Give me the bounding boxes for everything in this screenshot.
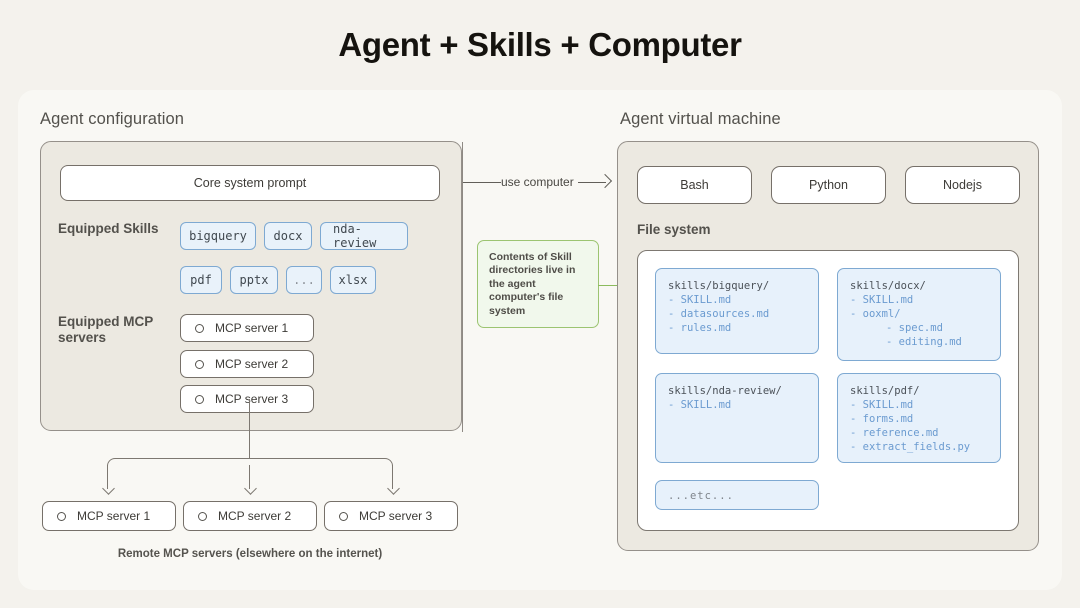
equipped-skills-label: Equipped Skills xyxy=(58,221,168,237)
file-entry: - editing.md xyxy=(850,335,988,349)
runtime-python[interactable]: Python xyxy=(771,166,886,204)
file-entry: - SKILL.md xyxy=(850,293,988,307)
skill-chip-more[interactable]: ... xyxy=(286,266,322,294)
file-tree-path: skills/bigquery/ xyxy=(668,279,806,293)
equipped-mcp-server-1[interactable]: MCP server 1 xyxy=(180,314,314,342)
file-entry: - SKILL.md xyxy=(668,398,806,412)
file-tree-docx: skills/docx/ - SKILL.md - ooxml/ - spec.… xyxy=(837,268,1001,361)
file-tree-path: skills/pdf/ xyxy=(850,384,988,398)
circle-icon xyxy=(195,395,204,404)
page-title: Agent + Skills + Computer xyxy=(0,26,1080,64)
agent-configuration-heading: Agent configuration xyxy=(40,110,184,129)
file-entry: - reference.md xyxy=(850,426,988,440)
circle-icon xyxy=(339,512,348,521)
remote-mcp-server-2[interactable]: MCP server 2 xyxy=(183,501,317,531)
file-entry: - ooxml/ xyxy=(850,307,988,321)
mcp-branch-stem xyxy=(249,399,250,459)
runtime-nodejs-label: Nodejs xyxy=(943,178,982,192)
runtime-bash-label: Bash xyxy=(680,178,709,192)
core-system-prompt-box: Core system prompt xyxy=(60,165,440,201)
equipped-mcp-server-3-label: MCP server 3 xyxy=(215,392,288,406)
equipped-mcp-server-2-label: MCP server 2 xyxy=(215,357,288,371)
skill-chip-pptx[interactable]: pptx xyxy=(230,266,278,294)
remote-mcp-server-3-label: MCP server 3 xyxy=(359,509,432,523)
skill-chip-nda-review[interactable]: nda-review xyxy=(320,222,408,250)
circle-icon xyxy=(198,512,207,521)
file-tree-pdf: skills/pdf/ - SKILL.md - forms.md - refe… xyxy=(837,373,1001,463)
remote-mcp-server-1[interactable]: MCP server 1 xyxy=(42,501,176,531)
file-system-label: File system xyxy=(637,222,711,237)
circle-icon xyxy=(195,324,204,333)
skill-chip-xlsx[interactable]: xlsx xyxy=(330,266,376,294)
file-entry: - SKILL.md xyxy=(850,398,988,412)
agent-virtual-machine-heading: Agent virtual machine xyxy=(620,110,781,129)
file-entry: - spec.md xyxy=(850,321,988,335)
file-entry: - forms.md xyxy=(850,412,988,426)
remote-mcp-server-2-label: MCP server 2 xyxy=(218,509,291,523)
file-tree-etc-label: ...etc... xyxy=(668,489,806,503)
file-entry: - datasources.md xyxy=(668,307,806,321)
equipped-mcp-server-2[interactable]: MCP server 2 xyxy=(180,350,314,378)
remote-mcp-server-3[interactable]: MCP server 3 xyxy=(324,501,458,531)
circle-icon xyxy=(195,360,204,369)
equipped-mcp-servers-label: Equipped MCP servers xyxy=(58,314,163,346)
skill-directories-callout: Contents of Skill directories live in th… xyxy=(477,240,599,328)
runtime-bash[interactable]: Bash xyxy=(637,166,752,204)
circle-icon xyxy=(57,512,66,521)
runtime-python-label: Python xyxy=(809,178,848,192)
file-tree-nda-review: skills/nda-review/ - SKILL.md xyxy=(655,373,819,463)
file-tree-path: skills/docx/ xyxy=(850,279,988,293)
equipped-mcp-server-1-label: MCP server 1 xyxy=(215,321,288,335)
skill-chip-docx[interactable]: docx xyxy=(264,222,312,250)
file-entry: - SKILL.md xyxy=(668,293,806,307)
file-entry: - rules.md xyxy=(668,321,806,335)
remote-mcp-caption: Remote MCP servers (elsewhere on the int… xyxy=(42,548,458,560)
core-system-prompt-label: Core system prompt xyxy=(194,176,307,190)
file-tree-bigquery: skills/bigquery/ - SKILL.md - datasource… xyxy=(655,268,819,354)
file-tree-etc: ...etc... xyxy=(655,480,819,510)
file-tree-path: skills/nda-review/ xyxy=(668,384,806,398)
remote-mcp-server-1-label: MCP server 1 xyxy=(77,509,150,523)
skill-chip-pdf[interactable]: pdf xyxy=(180,266,222,294)
skill-chip-bigquery[interactable]: bigquery xyxy=(180,222,256,250)
use-computer-line-left xyxy=(463,182,501,183)
use-computer-label: use computer xyxy=(501,175,574,189)
use-computer-vertical-line xyxy=(462,142,463,432)
runtime-nodejs[interactable]: Nodejs xyxy=(905,166,1020,204)
file-entry: - extract_fields.py xyxy=(850,440,988,454)
equipped-mcp-server-3[interactable]: MCP server 3 xyxy=(180,385,314,413)
